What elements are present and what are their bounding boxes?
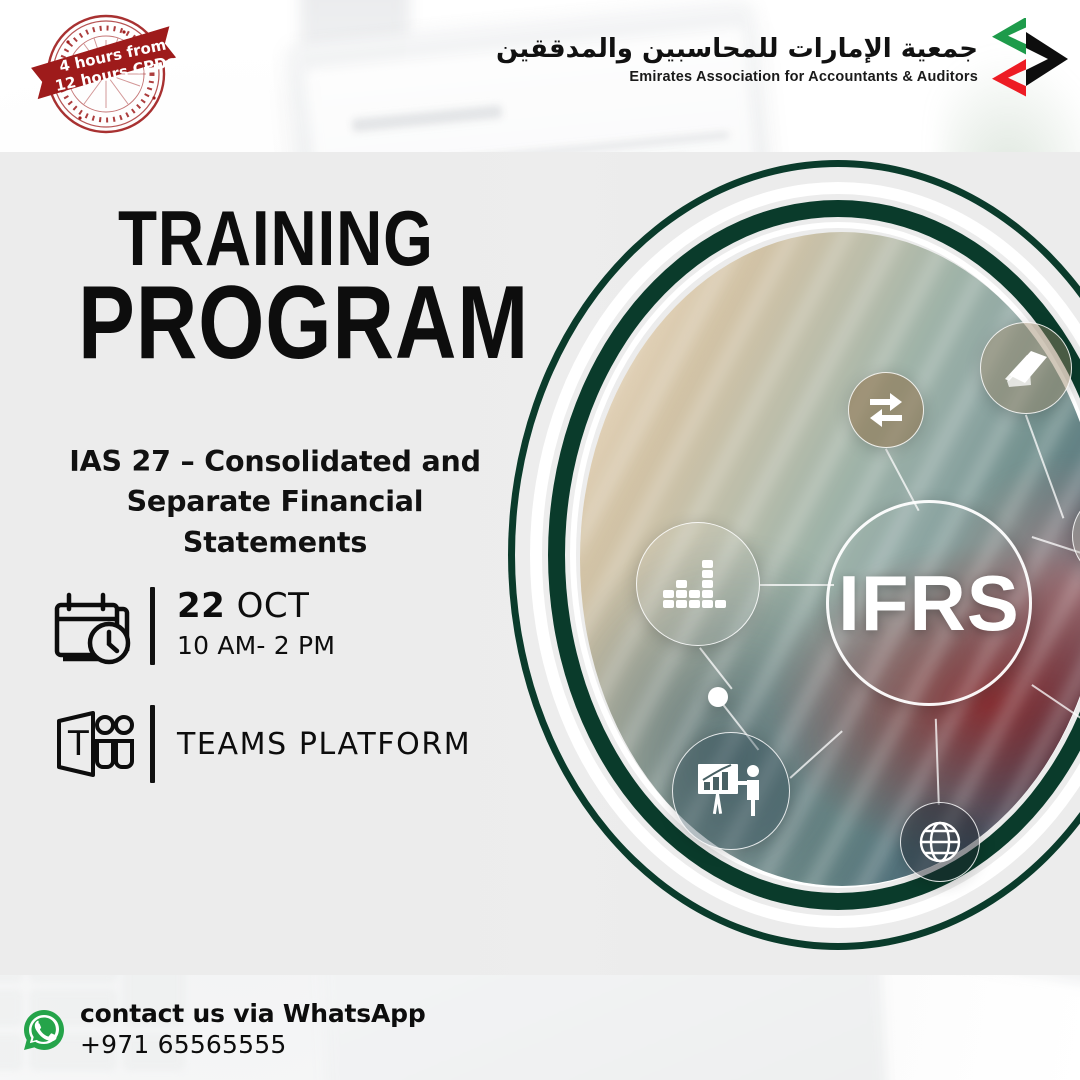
book-icon (980, 322, 1072, 414)
contact-heading: contact us via WhatsApp (80, 998, 426, 1029)
ifrs-label: IFRS (838, 558, 1020, 649)
date-time-text: 22 OCT 10 AM- 2 PM (177, 589, 335, 662)
subtitle-line-2: Separate Financial Statements (40, 482, 510, 563)
eaaa-logo: جمعية الإمارات للمحاسبين والمدققين Emira… (496, 18, 1072, 100)
node-dot-icon (708, 687, 728, 707)
whatsapp-icon[interactable] (22, 1008, 66, 1052)
platform-text: TEAMS PLATFORM (177, 727, 471, 762)
event-day: 22 (177, 586, 225, 626)
microsoft-teams-icon: T (46, 707, 142, 781)
logo-text-block: جمعية الإمارات للمحاسبين والمدققين Emira… (496, 33, 978, 86)
training-program-poster: IFRS (0, 0, 1080, 1080)
logo-english-name: Emirates Association for Accountants & A… (496, 69, 978, 85)
contact-phone[interactable]: +971 65565555 (80, 1029, 426, 1062)
contact-footer[interactable]: contact us via WhatsApp +971 65565555 (22, 998, 426, 1062)
row-divider (150, 587, 155, 665)
event-details: 22 OCT 10 AM- 2 PM T TEAMS PLATFORM (46, 578, 471, 792)
contact-text-block: contact us via WhatsApp +971 65565555 (80, 998, 426, 1062)
event-time: 10 AM- 2 PM (177, 629, 335, 663)
exchange-arrows-icon (848, 372, 924, 448)
eaaa-chevron-logo-icon (992, 18, 1072, 100)
ifrs-node-network: IFRS (580, 232, 1080, 886)
headline-line-2: PROGRAM (78, 277, 529, 371)
ifrs-center-node: IFRS (826, 500, 1032, 706)
presentation-person-icon (672, 732, 790, 850)
calendar-clock-icon (46, 587, 142, 665)
subtitle-line-1: IAS 27 – Consolidated and (40, 442, 510, 482)
globe-icon (900, 802, 980, 882)
row-divider (150, 705, 155, 783)
bar-chart-blocks-icon (636, 522, 760, 646)
cpd-stamp-badge: 4 hours from 12 hours CPDs (28, 12, 188, 142)
event-month: OCT (237, 586, 310, 626)
refresh-cycle-icon (1072, 492, 1080, 580)
date-time-row: 22 OCT 10 AM- 2 PM (46, 578, 471, 674)
platform-label: TEAMS PLATFORM (177, 727, 471, 762)
page-title: TRAINING PROGRAM (118, 203, 628, 370)
svg-text:T: T (67, 724, 89, 764)
platform-row: T TEAMS PLATFORM (46, 696, 471, 792)
logo-arabic-name: جمعية الإمارات للمحاسبين والمدققين (496, 33, 978, 66)
course-subtitle: IAS 27 – Consolidated and Separate Finan… (40, 442, 510, 563)
